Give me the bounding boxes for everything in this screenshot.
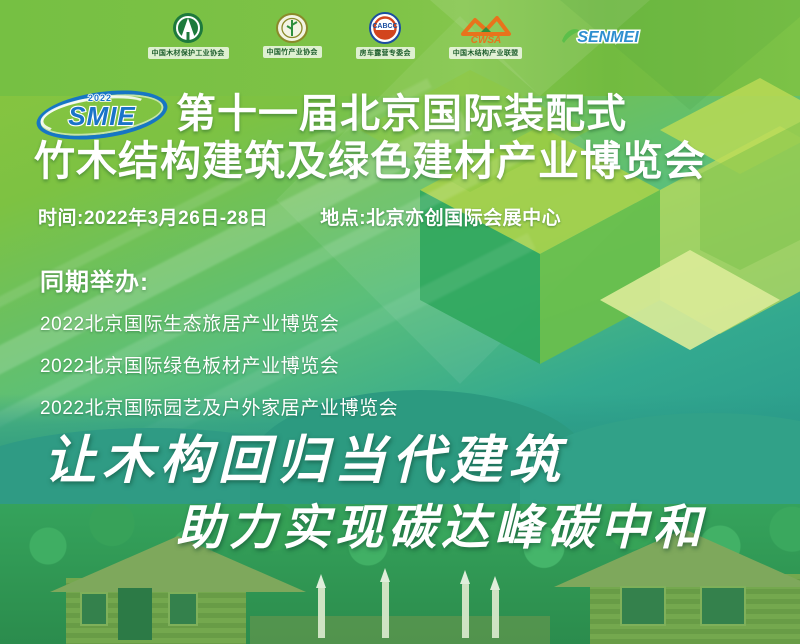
umbrella-3-icon [462, 582, 469, 638]
event-venue: 地点:北京亦创国际会展中心 [320, 203, 561, 230]
sponsor-logo-row: 中国木材保护工业协会 中国竹产业协会 CABCC 房 [0, 4, 800, 66]
svg-text:CABCC: CABCC [373, 23, 398, 30]
smie-logo-text: SMIE [36, 103, 168, 129]
headline-block: 2022 SMIE 第十一届北京国际装配式 竹木结构建筑及绿色建材产业博览会 [0, 92, 800, 183]
pine-tree-emblem-icon [170, 12, 206, 46]
umbrella-1-icon [318, 586, 325, 638]
exhibition-poster: 中国木材保护工业协会 中国竹产业协会 CABCC 房 [0, 0, 800, 644]
sponsor-logo-1-label: 中国竹产业协会 [263, 46, 322, 58]
slogan-line1: 让木构回归当代建筑 [44, 418, 566, 493]
cabcc-round-badge-icon: CABCC [367, 12, 403, 46]
page-title-line1: 第十一届北京国际装配式 [176, 93, 627, 136]
event-meta: 时间:2022年3月26日-28日 地点:北京亦创国际会展中心 [38, 203, 561, 230]
concurrent-events-heading: 同期举办: [40, 262, 398, 297]
senmei-leaf-wordmark-icon: SENMEI [556, 21, 652, 49]
concurrent-events-block: 同期举办: 2022北京国际生态旅居产业博览会 2022北京国际绿色板材产业博览… [40, 262, 398, 435]
bamboo-seal-icon [275, 13, 309, 45]
umbrella-2-icon [382, 580, 389, 638]
svg-text:SENMEI: SENMEI [578, 29, 640, 46]
event-date: 时间:2022年3月26日-28日 [38, 203, 268, 230]
sponsor-logo-2[interactable]: CABCC 房车露营专委会 [356, 12, 415, 59]
slogan-line2: 助力实现碳达峰碳中和 [176, 488, 706, 558]
sponsor-logo-3-label: 中国木结构产业联盟 [449, 47, 523, 59]
sponsor-logo-0-label: 中国木材保护工业协会 [148, 47, 229, 59]
concurrent-event-item: 2022北京国际园艺及户外家居产业博览会 [40, 393, 398, 420]
concurrent-event-item: 2022北京国际绿色板材产业博览会 [40, 351, 398, 378]
smie-ellipse-logo-icon[interactable]: 2022 SMIE [36, 92, 168, 138]
umbrella-4-icon [492, 588, 499, 638]
sponsor-logo-2-label: 房车露营专委会 [356, 47, 415, 59]
house-roof-cwsa-icon: CWSA [459, 12, 513, 46]
concurrent-event-item: 2022北京国际生态旅居产业博览会 [40, 309, 398, 336]
page-title-line2: 竹木结构建筑及绿色建材产业博览会 [0, 140, 800, 183]
svg-text:CWSA: CWSA [470, 35, 501, 46]
sponsor-logo-4[interactable]: SENMEI [556, 21, 652, 49]
sponsor-logo-3[interactable]: CWSA 中国木结构产业联盟 [449, 12, 523, 59]
sponsor-logo-1[interactable]: 中国竹产业协会 [263, 13, 322, 58]
sponsor-logo-0[interactable]: 中国木材保护工业协会 [148, 12, 229, 59]
